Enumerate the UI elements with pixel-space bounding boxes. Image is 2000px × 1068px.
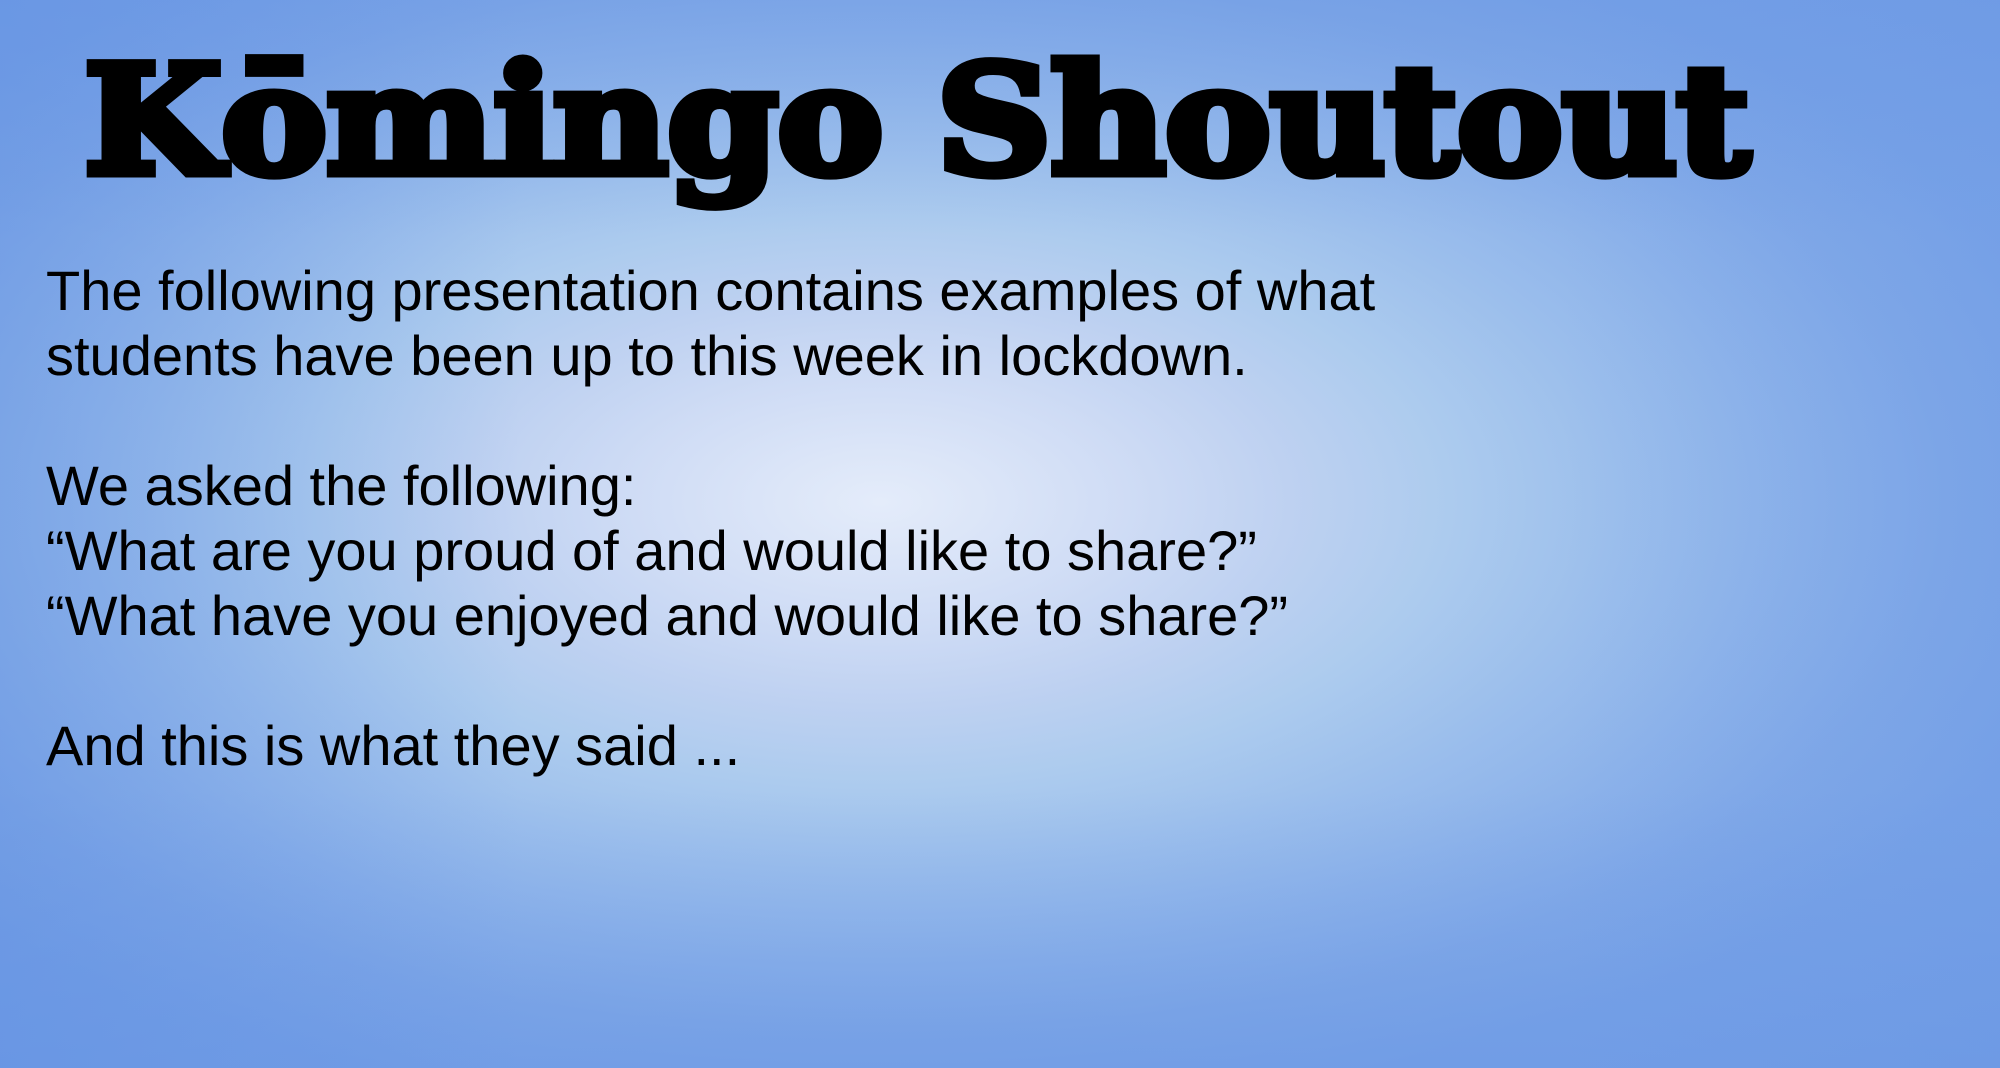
paragraph-closing: And this is what they said ...: [46, 713, 1946, 778]
paragraph-spacer: [46, 648, 1946, 713]
slide-body: The following presentation contains exam…: [46, 258, 1946, 778]
slide-content: Kōmingo Shoutout The following presentat…: [0, 0, 2000, 1068]
page-title: Kōmingo Shoutout: [84, 46, 2000, 196]
body-line: We asked the following:: [46, 453, 1946, 518]
paragraph-spacer: [46, 388, 1946, 453]
paragraph-questions: We asked the following: “What are you pr…: [46, 453, 1946, 648]
presentation-slide: Kōmingo Shoutout The following presentat…: [0, 0, 2000, 1068]
body-line: The following presentation contains exam…: [46, 258, 1946, 323]
body-line-question-proud: “What are you proud of and would like to…: [46, 518, 1946, 583]
body-line-closing: And this is what they said ...: [46, 713, 1946, 778]
paragraph-intro: The following presentation contains exam…: [46, 258, 1946, 388]
body-line-question-enjoyed: “What have you enjoyed and would like to…: [46, 583, 1946, 648]
body-line: students have been up to this week in lo…: [46, 323, 1946, 388]
